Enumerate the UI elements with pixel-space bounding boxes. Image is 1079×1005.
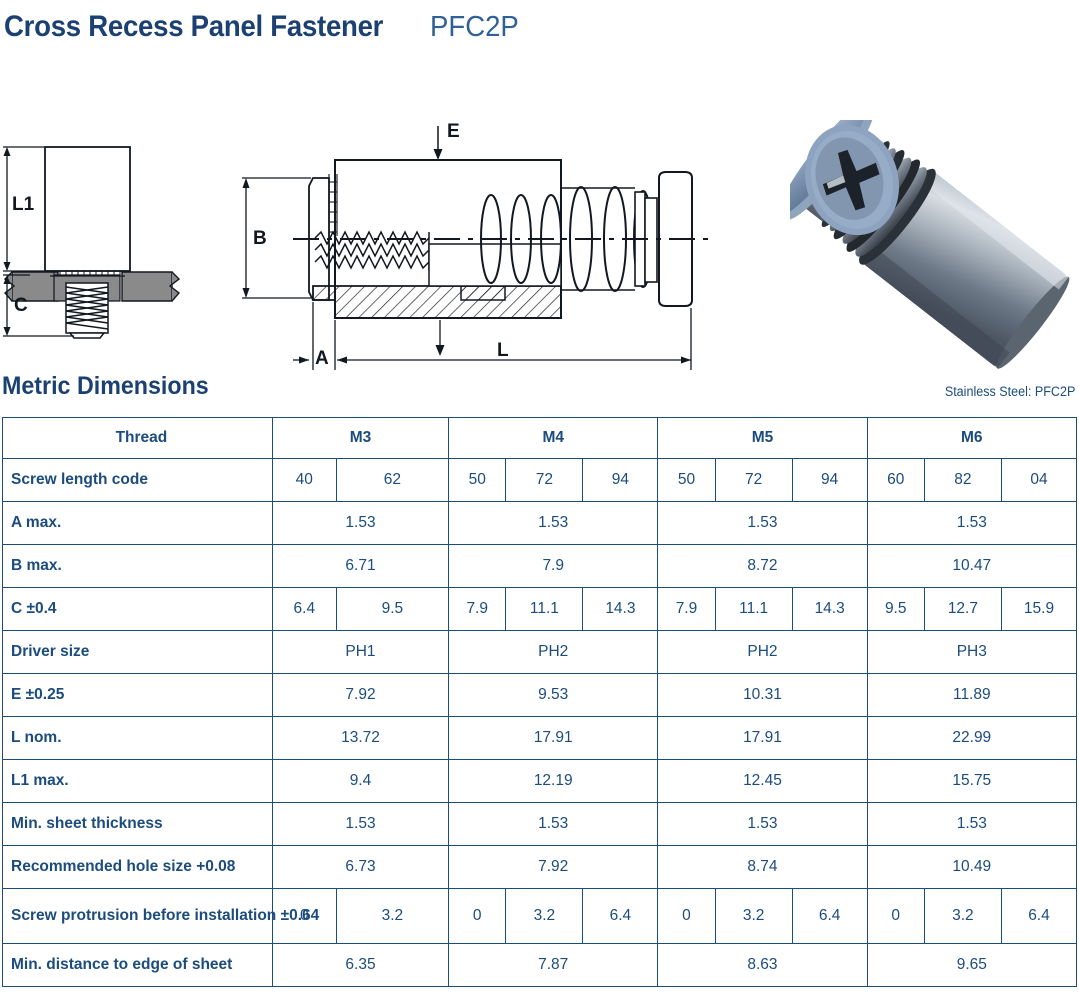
table-row-min-distance-edge: Min. distance to edge of sheet 6.35 7.87… (3, 944, 1077, 987)
table-row-screw-length-code: Screw length code 40 62 50 72 94 50 72 9… (3, 459, 1077, 502)
cell-sp-3: 0 (449, 889, 506, 944)
section-header: Metric Dimensions Stainless Steel: PFC2P (0, 372, 1079, 417)
cell-c-8: 14.3 (792, 588, 867, 631)
row-label-recommended-hole-size: Recommended hole size +0.08 (3, 846, 273, 889)
cell-mst-m4: 1.53 (449, 803, 658, 846)
cell-c-10: 12.7 (924, 588, 1001, 631)
cell-mde-m4: 7.87 (449, 944, 658, 987)
table-row-recommended-hole-size: Recommended hole size +0.08 6.73 7.92 8.… (3, 846, 1077, 889)
cell-sp-5: 6.4 (583, 889, 658, 944)
fastener-photo-svg (790, 120, 1079, 372)
cell-hole-m3: 6.73 (272, 846, 448, 889)
thread-group-m4: M4 (449, 418, 658, 459)
cell-c-11: 15.9 (1001, 588, 1076, 631)
row-label-l-nom: L nom. (3, 717, 273, 760)
table-row-screw-protrusion: Screw protrusion before installation ±0.… (3, 889, 1077, 944)
cell-c-6: 7.9 (658, 588, 715, 631)
cell-code-m6-2: 82 (924, 459, 1001, 502)
row-label-b-max: B max. (3, 545, 273, 588)
cell-hole-m4: 7.92 (449, 846, 658, 889)
cell-driver-m4: PH2 (449, 631, 658, 674)
cell-a-max-m3: 1.53 (272, 502, 448, 545)
material-note: Stainless Steel: PFC2P (944, 384, 1075, 399)
thread-group-m3: M3 (272, 418, 448, 459)
thread-group-m5: M5 (658, 418, 867, 459)
cell-code-m6-3: 04 (1001, 459, 1076, 502)
table-row-e-tol: E ±0.25 7.92 9.53 10.31 11.89 (3, 674, 1077, 717)
figure-row: L1 C (0, 42, 1079, 372)
cell-l1-m3: 9.4 (272, 760, 448, 803)
cell-code-m4-2: 72 (506, 459, 583, 502)
row-label-e-tol: E ±0.25 (3, 674, 273, 717)
thread-group-m6: M6 (867, 418, 1076, 459)
cell-code-m3-2: 62 (336, 459, 448, 502)
dimension-label-L1: L1 (12, 194, 34, 216)
cell-l-m3: 13.72 (272, 717, 448, 760)
cell-mde-m5: 8.63 (658, 944, 867, 987)
row-label-min-sheet-thickness: Min. sheet thickness (3, 803, 273, 846)
row-label-c-tol: C ±0.4 (3, 588, 273, 631)
assembly-cross-section-svg (225, 120, 715, 372)
part-number: PFC2P (430, 11, 519, 44)
dimension-label-L: L (497, 340, 509, 362)
cell-c-9: 9.5 (867, 588, 924, 631)
cell-code-m6-1: 60 (867, 459, 924, 502)
row-label-thread: Thread (3, 418, 273, 459)
dimension-label-C: C (14, 295, 28, 317)
cell-e-m6: 11.89 (867, 674, 1076, 717)
cell-driver-m3: PH1 (272, 631, 448, 674)
cell-sp-8: 6.4 (792, 889, 867, 944)
cell-mst-m3: 1.53 (272, 803, 448, 846)
cell-driver-m6: PH3 (867, 631, 1076, 674)
table-row-min-sheet-thickness: Min. sheet thickness 1.53 1.53 1.53 1.53 (3, 803, 1077, 846)
cell-c-4: 11.1 (506, 588, 583, 631)
cell-l-m5: 17.91 (658, 717, 867, 760)
cell-mde-m3: 6.35 (272, 944, 448, 987)
table-row-c-tol: C ±0.4 6.4 9.5 7.9 11.1 14.3 7.9 11.1 14… (3, 588, 1077, 631)
cell-a-max-m6: 1.53 (867, 502, 1076, 545)
table-row-b-max: B max. 6.71 7.9 8.72 10.47 (3, 545, 1077, 588)
installed-cross-section-svg (0, 127, 200, 357)
cell-sp-6: 0 (658, 889, 715, 944)
row-label-a-max: A max. (3, 502, 273, 545)
row-label-driver-size: Driver size (3, 631, 273, 674)
cell-a-max-m5: 1.53 (658, 502, 867, 545)
row-label-l1-max: L1 max. (3, 760, 273, 803)
cell-b-max-m6: 10.47 (867, 545, 1076, 588)
cell-c-2: 9.5 (336, 588, 448, 631)
dimension-label-A: A (315, 348, 329, 370)
table-row-l1-max: L1 max. 9.4 12.19 12.45 15.75 (3, 760, 1077, 803)
assembly-cross-section-drawing: E B A L (225, 120, 715, 372)
cell-l1-m4: 12.19 (449, 760, 658, 803)
row-label-min-distance-edge: Min. distance to edge of sheet (3, 944, 273, 987)
row-label-screw-protrusion: Screw protrusion before installation ±0.… (3, 889, 273, 944)
cell-sp-9: 0 (867, 889, 924, 944)
table-row-a-max: A max. 1.53 1.53 1.53 1.53 (3, 502, 1077, 545)
dimension-label-B: B (253, 228, 267, 250)
cell-hole-m6: 10.49 (867, 846, 1076, 889)
page-title-text: Cross Recess Panel Fastener (4, 10, 383, 44)
cell-b-max-m3: 6.71 (272, 545, 448, 588)
cell-sp-2: 3.2 (336, 889, 448, 944)
cell-c-1: 6.4 (272, 588, 336, 631)
cell-c-5: 14.3 (583, 588, 658, 631)
cell-a-max-m4: 1.53 (449, 502, 658, 545)
cell-code-m5-3: 94 (792, 459, 867, 502)
cell-sp-7: 3.2 (715, 889, 792, 944)
cell-hole-m5: 8.74 (658, 846, 867, 889)
cell-b-max-m5: 8.72 (658, 545, 867, 588)
cell-code-m4-1: 50 (449, 459, 506, 502)
cell-code-m3-1: 40 (272, 459, 336, 502)
cell-l1-m6: 15.75 (867, 760, 1076, 803)
table-row-l-nom: L nom. 13.72 17.91 17.91 22.99 (3, 717, 1077, 760)
cell-sp-4: 3.2 (506, 889, 583, 944)
cell-e-m5: 10.31 (658, 674, 867, 717)
cell-l1-m5: 12.45 (658, 760, 867, 803)
cell-mde-m6: 9.65 (867, 944, 1076, 987)
cell-l-m4: 17.91 (449, 717, 658, 760)
fastener-photo (790, 120, 1079, 372)
cell-mst-m5: 1.53 (658, 803, 867, 846)
cell-e-m4: 9.53 (449, 674, 658, 717)
cell-driver-m5: PH2 (658, 631, 867, 674)
cell-sp-10: 3.2 (924, 889, 1001, 944)
table-row-driver-size: Driver size PH1 PH2 PH2 PH3 (3, 631, 1077, 674)
metric-dimensions-table: Thread M3 M4 M5 M6 Screw length code 40 … (2, 417, 1077, 987)
page-title: Cross Recess Panel Fastener PFC2P (0, 0, 1079, 42)
cell-e-m3: 7.92 (272, 674, 448, 717)
installed-cross-section-drawing: L1 C (0, 127, 200, 357)
row-label-screw-length-code: Screw length code (3, 459, 273, 502)
cell-code-m4-3: 94 (583, 459, 658, 502)
cell-c-3: 7.9 (449, 588, 506, 631)
cell-c-7: 11.1 (715, 588, 792, 631)
cell-sp-11: 6.4 (1001, 889, 1076, 944)
cell-mst-m6: 1.53 (867, 803, 1076, 846)
cell-b-max-m4: 7.9 (449, 545, 658, 588)
table-row-thread: Thread M3 M4 M5 M6 (3, 418, 1077, 459)
dimension-label-E: E (447, 121, 460, 143)
section-title: Metric Dimensions (2, 372, 209, 401)
cell-l-m6: 22.99 (867, 717, 1076, 760)
cell-code-m5-2: 72 (715, 459, 792, 502)
cell-code-m5-1: 50 (658, 459, 715, 502)
